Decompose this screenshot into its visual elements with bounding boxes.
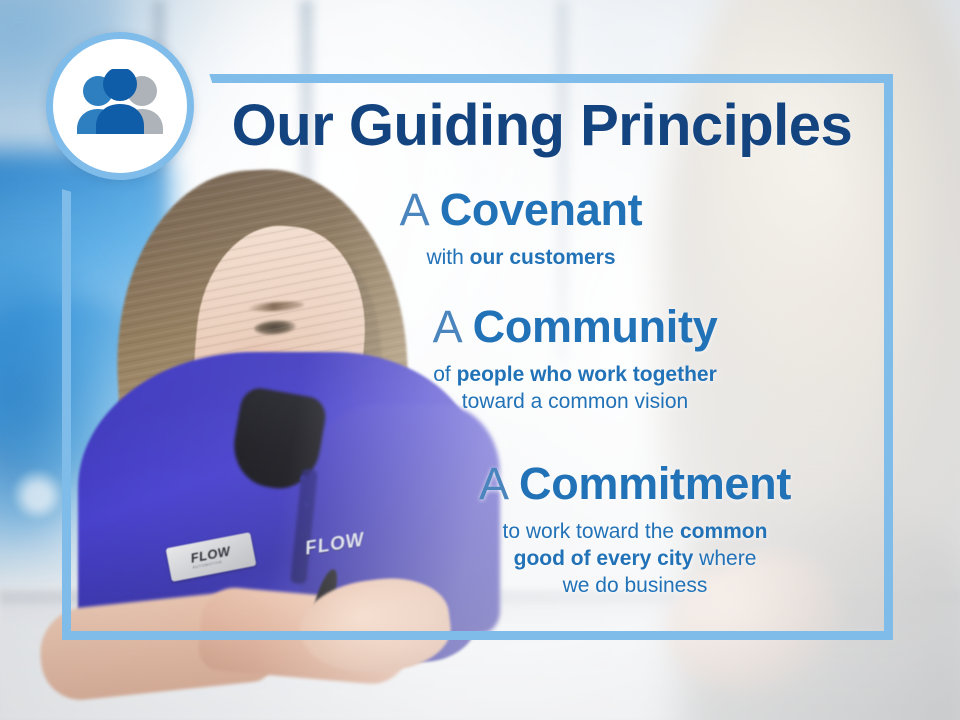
principle-community-heading: A Community <box>340 303 810 352</box>
principle-community-article: A <box>433 301 461 352</box>
principle-covenant-word: Covenant <box>440 184 643 235</box>
principle-commitment-sub-regular-2: where <box>693 547 756 570</box>
people-group-icon <box>68 69 172 143</box>
principle-commitment: A Commitment to work toward the common g… <box>400 460 870 599</box>
principle-commitment-word: Commitment <box>519 458 791 509</box>
principle-covenant: A Covenant with our customers <box>296 186 746 271</box>
principle-community-sub-regular: of <box>433 363 456 386</box>
principle-community-sub-line2: toward a common vision <box>462 390 688 413</box>
employee-shirt-button <box>300 475 307 482</box>
principle-covenant-sub-bold: our customers <box>470 246 616 269</box>
principle-covenant-subtext: with our customers <box>296 244 746 271</box>
principle-commitment-sub-line3: we do business <box>563 574 708 597</box>
principle-community-subtext: of people who work together toward a com… <box>340 361 810 416</box>
employee-shirt-button <box>303 501 310 508</box>
principle-covenant-article: A <box>400 184 428 235</box>
principle-commitment-sub-bold-2: good of every city <box>514 547 694 570</box>
principle-commitment-sub-bold-1: common <box>680 520 768 543</box>
page-title: Our Guiding Principles <box>218 96 866 157</box>
principle-commitment-article: A <box>479 458 507 509</box>
principle-community: A Community of people who work together … <box>340 303 810 415</box>
principle-commitment-sub-regular: to work toward the <box>503 520 680 543</box>
principle-commitment-heading: A Commitment <box>400 460 870 509</box>
principle-commitment-subtext: to work toward the common good of every … <box>400 518 870 600</box>
banner-canvas: FLOW AUTOMOTIVE FLOW <box>0 0 960 720</box>
people-group-badge <box>46 32 194 180</box>
principle-covenant-heading: A Covenant <box>296 186 746 235</box>
principle-covenant-sub-regular: with <box>426 246 469 269</box>
principle-community-sub-bold: people who work together <box>457 363 717 386</box>
principle-community-word: Community <box>473 301 718 352</box>
